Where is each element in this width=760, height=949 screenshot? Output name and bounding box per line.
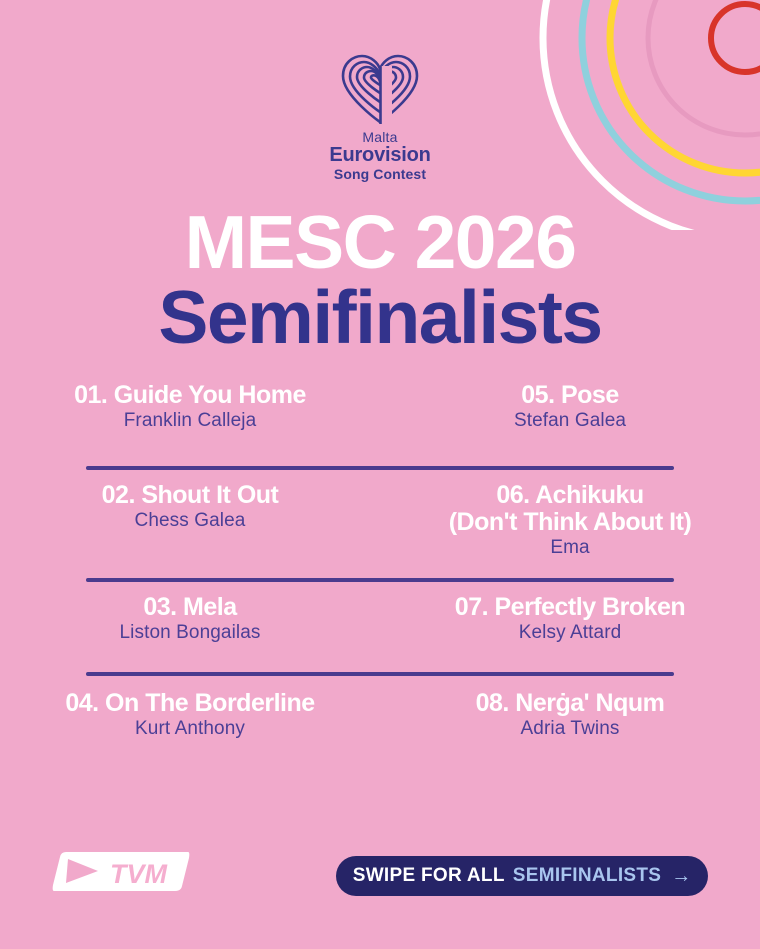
entry-title: 03. Mela [6, 594, 374, 621]
semifinalists-list: 01. Guide You Home Franklin Calleja 05. … [0, 382, 760, 760]
entry-artist: Franklin Calleja [6, 410, 374, 432]
entry-artist: Chess Galea [6, 510, 374, 532]
entry-row: 04. On The Borderline Kurt Anthony 08. N… [0, 676, 760, 760]
entry-title-line1: 06. Achikuku [386, 482, 754, 509]
entry-title: 01. Guide You Home [6, 382, 374, 409]
entry-artist: Stefan Galea [386, 410, 754, 432]
entry-01: 01. Guide You Home Franklin Calleja [0, 382, 380, 456]
entry-02: 02. Shout It Out Chess Galea [0, 482, 380, 578]
entry-07: 07. Perfectly Broken Kelsy Attard [380, 594, 760, 672]
swipe-for-all-semifinalists-button[interactable]: SWIPE FOR ALL SEMIFINALISTS → [336, 856, 708, 896]
entry-title: 02. Shout It Out [6, 482, 374, 509]
swipe-button-accent-label: SEMIFINALISTS [513, 865, 662, 887]
entry-artist: Adria Twins [386, 718, 754, 740]
swipe-button-main-label: SWIPE FOR ALL [353, 865, 505, 887]
entry-title: 07. Perfectly Broken [386, 594, 754, 621]
eurovision-logo-text: Malta Eurovision Song Contest [329, 130, 430, 182]
entry-05: 05. Pose Stefan Galea [380, 382, 760, 456]
svg-text:TVM: TVM [110, 859, 168, 889]
entry-artist: Liston Bongailas [6, 622, 374, 644]
logo-line-song-contest: Song Contest [329, 167, 430, 182]
entry-artist: Ema [386, 537, 754, 559]
page-title: MESC 2026 Semifinalists [0, 206, 760, 355]
headline-semifinalists: Semifinalists [0, 280, 760, 355]
headline-mesc-2026: MESC 2026 [0, 206, 760, 278]
tvm-logo-icon: TVM [52, 848, 190, 894]
entry-03: 03. Mela Liston Bongailas [0, 594, 380, 672]
entry-title: 04. On The Borderline [6, 690, 374, 717]
logo-line-malta: Malta [329, 130, 430, 145]
entry-08: 08. Nerġa' Nqum Adria Twins [380, 690, 760, 760]
entry-artist: Kurt Anthony [6, 718, 374, 740]
mesc-2026-semifinalists-poster: Malta Eurovision Song Contest MESC 2026 … [0, 0, 760, 949]
eurovision-logo-block: Malta Eurovision Song Contest [0, 52, 760, 182]
logo-line-eurovision: Eurovision [329, 145, 430, 167]
arrow-right-icon: → [671, 866, 691, 886]
entry-row: 03. Mela Liston Bongailas 07. Perfectly … [0, 582, 760, 672]
eurovision-heart-logo-icon [337, 52, 423, 126]
entry-04: 04. On The Borderline Kurt Anthony [0, 690, 380, 760]
entry-title: 08. Nerġa' Nqum [386, 690, 754, 717]
entry-title-line2: (Don't Think About It) [386, 509, 754, 536]
entry-row: 01. Guide You Home Franklin Calleja 05. … [0, 382, 760, 456]
entry-06: 06. Achikuku (Don't Think About It) Ema [380, 482, 760, 578]
entry-row: 02. Shout It Out Chess Galea 06. Achikuk… [0, 482, 760, 578]
divider-1 [86, 466, 674, 470]
entry-title: 05. Pose [386, 382, 754, 409]
entry-artist: Kelsy Attard [386, 622, 754, 644]
